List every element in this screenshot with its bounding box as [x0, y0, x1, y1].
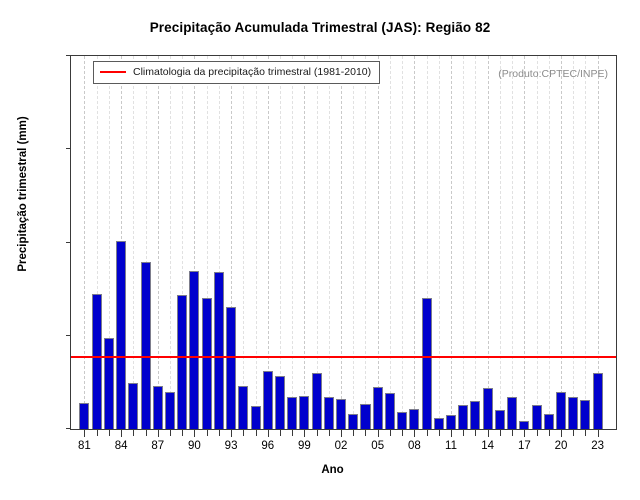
x-tick-mark: [219, 430, 220, 436]
gridline-vertical: [341, 56, 342, 429]
gridline-vertical: [451, 56, 452, 429]
x-tick-mark: [390, 430, 391, 436]
bar-1997: [275, 376, 285, 429]
y-tick-mark: [66, 148, 71, 149]
bar-2006: [385, 393, 395, 429]
bar-1989: [177, 295, 187, 429]
bar-2022: [580, 400, 590, 429]
gridline-vertical: [488, 56, 489, 429]
x-tick-label: 99: [284, 440, 324, 452]
gridline-vertical-minor: [133, 56, 134, 429]
bar-1993: [226, 307, 236, 429]
gridline-vertical-minor: [329, 56, 330, 429]
bar-1986: [141, 262, 151, 429]
x-tick-label: 96: [248, 440, 288, 452]
bar-2003: [348, 414, 358, 429]
chart-figure: Precipitação Acumulada Trimestral (JAS):…: [0, 0, 640, 500]
gridline-vertical: [414, 56, 415, 429]
bar-1996: [263, 371, 273, 429]
x-tick-mark: [329, 430, 330, 436]
x-tick-mark: [207, 430, 208, 436]
x-tick-mark: [121, 430, 122, 437]
x-tick-mark: [549, 430, 550, 436]
x-tick-mark: [170, 430, 171, 436]
gridline-vertical-minor: [256, 56, 257, 429]
x-tick-label: 87: [138, 440, 178, 452]
gridline-vertical-minor: [512, 56, 513, 429]
legend-line-swatch: [100, 71, 126, 73]
gridline-vertical-minor: [402, 56, 403, 429]
bar-2016: [507, 397, 517, 429]
bar-1995: [251, 406, 261, 429]
x-tick-label: 20: [541, 440, 581, 452]
x-tick-mark: [243, 430, 244, 436]
gridline-vertical-minor: [585, 56, 586, 429]
bar-2010: [434, 418, 444, 429]
x-tick-mark: [182, 430, 183, 436]
bar-2007: [397, 412, 407, 429]
bar-1981: [79, 403, 89, 429]
gridline-vertical-minor: [353, 56, 354, 429]
gridline-vertical-minor: [463, 56, 464, 429]
bar-1983: [104, 338, 114, 429]
gridline-vertical-minor: [500, 56, 501, 429]
x-tick-mark: [488, 430, 489, 437]
x-tick-mark: [194, 430, 195, 437]
bar-1987: [153, 386, 163, 429]
plot-area: (Produto:CPTEC/INPE) Climatologia da pre…: [70, 55, 617, 430]
bar-1988: [165, 392, 175, 429]
gridline-vertical-minor: [365, 56, 366, 429]
x-tick-mark: [365, 430, 366, 436]
x-tick-mark: [133, 430, 134, 436]
bar-2019: [544, 414, 554, 429]
x-tick-mark: [512, 430, 513, 436]
gridline-vertical: [158, 56, 159, 429]
x-tick-mark: [451, 430, 452, 437]
bar-2001: [324, 397, 334, 429]
x-tick-mark: [402, 430, 403, 436]
x-tick-label: 11: [431, 440, 471, 452]
x-tick-mark: [500, 430, 501, 436]
climatology-reference-line: [71, 356, 616, 358]
x-tick-mark: [524, 430, 525, 437]
x-tick-label: 02: [321, 440, 361, 452]
y-axis-label: Precipitação trimestral (mm): [17, 74, 29, 314]
x-tick-mark: [292, 430, 293, 436]
y-tick-mark: [66, 428, 71, 429]
x-tick-mark: [353, 430, 354, 436]
x-tick-mark: [97, 430, 98, 436]
bar-1999: [299, 396, 309, 429]
gridline-vertical-minor: [537, 56, 538, 429]
bar-2021: [568, 397, 578, 429]
gridline-vertical-minor: [292, 56, 293, 429]
x-tick-mark: [341, 430, 342, 437]
bar-1992: [214, 272, 224, 429]
gridline-vertical: [524, 56, 525, 429]
x-tick-label: 90: [174, 440, 214, 452]
gridline-vertical: [378, 56, 379, 429]
x-tick-mark: [378, 430, 379, 437]
x-tick-mark: [158, 430, 159, 437]
bar-2015: [495, 410, 505, 429]
gridline-vertical: [561, 56, 562, 429]
bar-2002: [336, 399, 346, 429]
bar-2014: [483, 388, 493, 429]
x-tick-label: 81: [64, 440, 104, 452]
bar-2005: [373, 387, 383, 429]
bar-2013: [470, 401, 480, 429]
x-tick-mark: [268, 430, 269, 437]
x-tick-label: 17: [504, 440, 544, 452]
x-tick-label: 84: [101, 440, 141, 452]
chart-legend: Climatologia da precipitação trimestral …: [93, 61, 380, 84]
y-tick-mark: [66, 55, 71, 56]
x-tick-label: 23: [578, 440, 618, 452]
x-tick-mark: [475, 430, 476, 436]
y-tick-mark: [66, 242, 71, 243]
gridline-vertical-minor: [170, 56, 171, 429]
bar-2008: [409, 409, 419, 429]
gridline-vertical-minor: [243, 56, 244, 429]
chart-title: Precipitação Acumulada Trimestral (JAS):…: [0, 20, 640, 35]
bar-1984: [116, 241, 126, 429]
x-axis-label: Ano: [80, 464, 585, 476]
bar-2023: [593, 373, 603, 429]
bar-1982: [92, 294, 102, 429]
gridline-vertical-minor: [549, 56, 550, 429]
bar-2004: [360, 404, 370, 429]
bar-1998: [287, 397, 297, 429]
x-tick-label: 05: [358, 440, 398, 452]
bar-2011: [446, 415, 456, 429]
x-tick-mark: [561, 430, 562, 437]
bar-1991: [202, 298, 212, 429]
gridline-vertical-minor: [390, 56, 391, 429]
x-tick-mark: [585, 430, 586, 436]
x-tick-mark: [537, 430, 538, 436]
bar-1985: [128, 383, 138, 429]
x-tick-mark: [304, 430, 305, 437]
x-tick-mark: [84, 430, 85, 437]
x-tick-mark: [427, 430, 428, 436]
x-tick-mark: [463, 430, 464, 436]
x-tick-mark: [598, 430, 599, 437]
bar-2020: [556, 392, 566, 429]
x-tick-label: 14: [468, 440, 508, 452]
y-tick-mark: [66, 335, 71, 336]
x-tick-mark: [146, 430, 147, 436]
gridline-vertical-minor: [475, 56, 476, 429]
x-tick-mark: [317, 430, 318, 436]
x-tick-label: 08: [394, 440, 434, 452]
x-tick-mark: [439, 430, 440, 436]
bar-2017: [519, 421, 529, 429]
x-tick-mark: [109, 430, 110, 436]
x-tick-label: 93: [211, 440, 251, 452]
x-tick-mark: [573, 430, 574, 436]
bar-1990: [189, 271, 199, 429]
gridline-vertical-minor: [439, 56, 440, 429]
bar-1994: [238, 386, 248, 429]
x-tick-mark: [280, 430, 281, 436]
legend-label-climatology: Climatologia da precipitação trimestral …: [133, 66, 371, 78]
x-tick-mark: [231, 430, 232, 437]
gridline-vertical: [304, 56, 305, 429]
gridline-vertical-minor: [573, 56, 574, 429]
gridline-vertical: [84, 56, 85, 429]
bar-2009: [422, 298, 432, 429]
gridline-vertical-minor: [280, 56, 281, 429]
x-tick-mark: [256, 430, 257, 436]
bar-2018: [532, 405, 542, 429]
bar-2012: [458, 405, 468, 429]
producer-credit: (Produto:CPTEC/INPE): [498, 68, 608, 80]
bar-2000: [312, 373, 322, 429]
x-tick-mark: [414, 430, 415, 437]
